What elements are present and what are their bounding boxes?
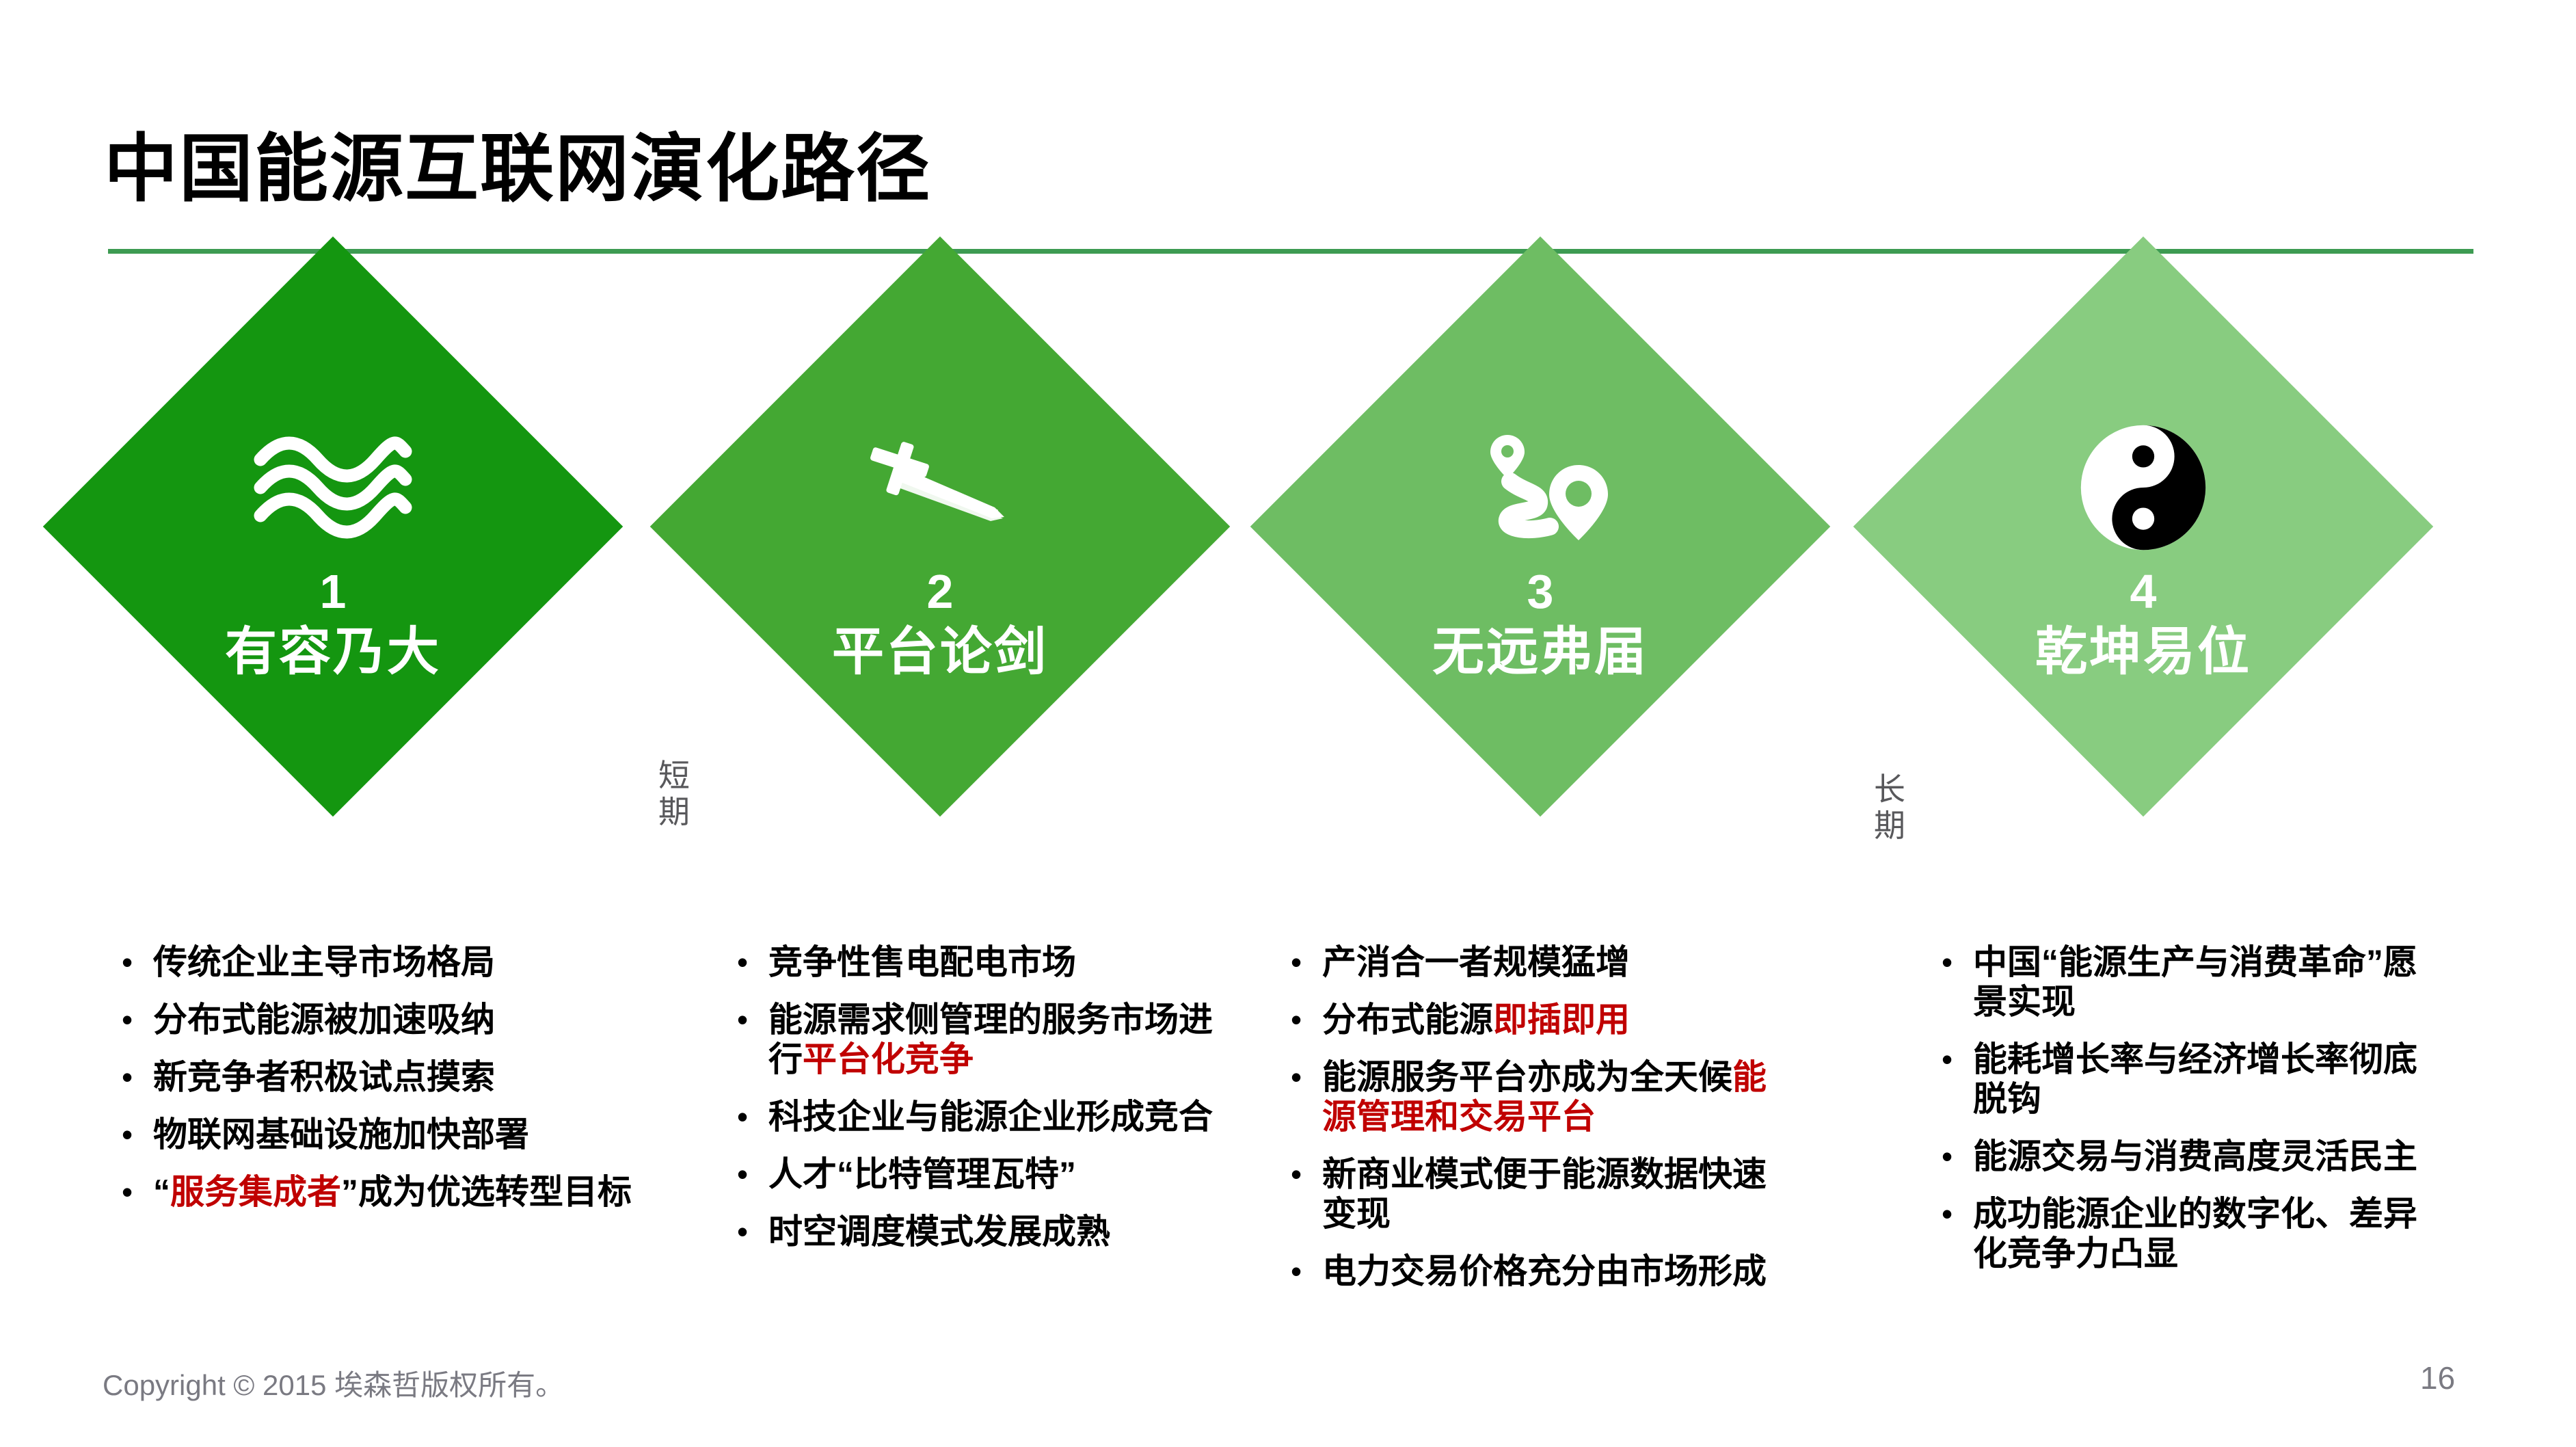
bullet-run: 分布式能源被加速吸纳 [153,1000,495,1039]
bullet-dot-icon: • [1291,1000,1322,1039]
bullet-run: 能耗增长率与经济增长率彻底脱钩 [1973,1040,2417,1118]
bullet-text: “服务集成者”成为优选转型目标 [153,1172,669,1212]
footer-copyright: Copyright © 2015 埃森哲版权所有。 [103,1362,564,1404]
bullet-item: •“服务集成者”成为优选转型目标 [122,1172,669,1212]
diamond-shape-2 [650,237,1231,817]
bullet-text: 成功能源企业的数字化、差异化竞争力凸显 [1973,1194,2420,1273]
bullet-item: •能源服务平台亦成为全天候能源管理和交易平台 [1291,1057,1783,1137]
bullet-column-1: •传统企业主导市场格局•分布式能源被加速吸纳•新竞争者积极试点摸索•物联网基础设… [122,942,669,1230]
bullet-highlight: 平台化竞争 [803,1040,974,1078]
bullet-item: •中国“能源生产与消费革命”愿景实现 [1942,942,2420,1022]
bullet-text: 分布式能源被加速吸纳 [153,1000,669,1039]
timeline-label-short-term: 短期 [656,758,692,830]
diamond-shape-4 [1853,237,2434,817]
page-title: 中国能源互联网演化路径 [104,109,931,216]
bullet-dot-icon: • [1942,1194,1973,1234]
bullet-text: 能源服务平台亦成为全天候能源管理和交易平台 [1322,1057,1783,1137]
bullet-run: 新竞争者积极试点摸索 [153,1058,495,1096]
bullet-column-2: •竞争性售电配电市场•能源需求侧管理的服务市场进行平台化竞争•科技企业与能源企业… [737,942,1236,1269]
bullet-text: 电力交易价格充分由市场形成 [1322,1251,1783,1291]
bullet-run: 能源交易与消费高度灵活民主 [1973,1137,2417,1176]
bullet-text: 产消合一者规模猛增 [1322,942,1783,982]
bullet-text: 能耗增长率与经济增长率彻底脱钩 [1973,1039,2420,1119]
diamond-face-4 [1853,237,2434,817]
stage-diamond-1[interactable]: 1 有容乃大 [49,321,617,889]
bullet-text: 物联网基础设施加快部署 [153,1115,669,1154]
bullet-item: •传统企业主导市场格局 [122,942,669,982]
bullet-highlight: 服务集成者 [170,1173,341,1211]
diamond-shape-1 [43,237,623,817]
bullet-item: •新竞争者积极试点摸索 [122,1057,669,1097]
bullet-run: 分布式能源 [1322,1000,1493,1039]
bullet-dot-icon: • [1291,1057,1322,1097]
bullet-run: 科技企业与能源企业形成竞合 [768,1098,1213,1136]
bullet-dot-icon: • [1942,1039,1973,1079]
bullet-run: 人才“比特管理瓦特” [768,1155,1076,1193]
bullet-dot-icon: • [737,1000,768,1039]
bullet-run: 电力交易价格充分由市场形成 [1322,1252,1767,1290]
diamond-face-2 [650,237,1231,817]
bullet-dot-icon: • [1291,942,1322,982]
bullet-run: 竞争性售电配电市场 [768,943,1076,981]
bullet-column-3: •产消合一者规模猛增•分布式能源即插即用•能源服务平台亦成为全天候能源管理和交易… [1291,942,1783,1309]
bullet-column-4: •中国“能源生产与消费革命”愿景实现•能耗增长率与经济增长率彻底脱钩•能源交易与… [1942,942,2420,1291]
bullet-dot-icon: • [1291,1251,1322,1291]
bullet-dot-icon: • [737,1154,768,1194]
bullet-text: 时空调度模式发展成熟 [768,1212,1236,1251]
bullet-item: •分布式能源即插即用 [1291,1000,1783,1039]
bullet-dot-icon: • [1942,942,1973,982]
bullet-dot-icon: • [122,1172,153,1212]
bullet-dot-icon: • [737,1097,768,1137]
bullet-run: 产消合一者规模猛增 [1322,943,1630,981]
bullet-run: 传统企业主导市场格局 [153,943,495,981]
bullet-item: •物联网基础设施加快部署 [122,1115,669,1154]
bullet-run: 中国“能源生产与消费革命”愿景实现 [1973,943,2417,1021]
bullet-dot-icon: • [122,942,153,982]
bullet-run: “ [153,1173,170,1211]
diamond-shape-3 [1250,237,1831,817]
bullet-item: •竞争性售电配电市场 [737,942,1236,982]
bullet-item: •能耗增长率与经济增长率彻底脱钩 [1942,1039,2420,1119]
bullet-run: 新商业模式便于能源数据快速变现 [1322,1155,1767,1233]
bullet-highlight: 即插即用 [1493,1000,1630,1039]
bullet-dot-icon: • [1942,1137,1973,1176]
bullet-dot-icon: • [122,1057,153,1097]
stage-diamond-4[interactable]: 4 乾坤易位 [1860,321,2427,889]
bullet-item: •能源交易与消费高度灵活民主 [1942,1137,2420,1176]
bullet-item: •分布式能源被加速吸纳 [122,1000,669,1039]
bullet-text: 竞争性售电配电市场 [768,942,1236,982]
bullet-text: 分布式能源即插即用 [1322,1000,1783,1039]
bullet-item: •新商业模式便于能源数据快速变现 [1291,1154,1783,1234]
bullet-text: 中国“能源生产与消费革命”愿景实现 [1973,942,2420,1022]
title-divider [108,249,2473,254]
stage-diamond-2[interactable]: 2 平台论剑 [656,321,1224,889]
bullet-run: 物联网基础设施加快部署 [153,1115,529,1154]
bullet-dot-icon: • [737,942,768,982]
bullet-text: 能源需求侧管理的服务市场进行平台化竞争 [768,1000,1236,1079]
bullet-item: •人才“比特管理瓦特” [737,1154,1236,1194]
bullet-run: 能源服务平台亦成为全天候 [1322,1058,1732,1096]
bullet-text: 传统企业主导市场格局 [153,942,669,982]
bullet-dot-icon: • [737,1212,768,1251]
bullet-columns: •传统企业主导市场格局•分布式能源被加速吸纳•新竞争者积极试点摸索•物联网基础设… [0,942,2576,1366]
bullet-dot-icon: • [122,1000,153,1039]
bullet-item: •科技企业与能源企业形成竞合 [737,1097,1236,1137]
bullet-run: ”成为优选转型目标 [341,1173,632,1211]
bullet-text: 新商业模式便于能源数据快速变现 [1322,1154,1783,1234]
bullet-text: 科技企业与能源企业形成竞合 [768,1097,1236,1137]
page-number: 16 [2420,1359,2455,1396]
stage-diamond-3[interactable]: 3 无远弗届 [1257,321,1824,889]
bullet-run: 时空调度模式发展成熟 [768,1212,1110,1251]
bullet-item: •能源需求侧管理的服务市场进行平台化竞争 [737,1000,1236,1079]
diamond-face-3 [1250,237,1831,817]
bullet-item: •电力交易价格充分由市场形成 [1291,1251,1783,1291]
bullet-item: •时空调度模式发展成熟 [737,1212,1236,1251]
bullet-item: •产消合一者规模猛增 [1291,942,1783,982]
bullet-text: 人才“比特管理瓦特” [768,1154,1236,1194]
diamond-face-1 [43,237,623,817]
bullet-text: 新竞争者积极试点摸索 [153,1057,669,1097]
bullet-item: •成功能源企业的数字化、差异化竞争力凸显 [1942,1194,2420,1273]
stage-diamond-row: 1 有容乃大 [0,321,2576,910]
bullet-dot-icon: • [1291,1154,1322,1194]
bullet-run: 成功能源企业的数字化、差异化竞争力凸显 [1973,1195,2417,1273]
bullet-dot-icon: • [122,1115,153,1154]
timeline-label-long-term: 长期 [1872,771,1907,844]
bullet-text: 能源交易与消费高度灵活民主 [1973,1137,2420,1176]
